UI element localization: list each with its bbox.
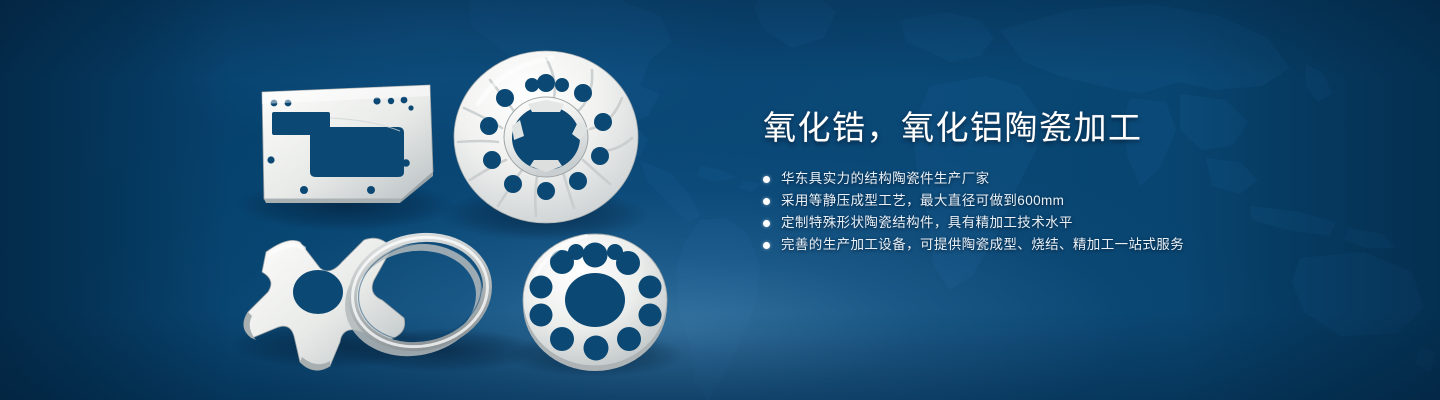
list-item: 采用等静压成型工艺，最大直径可做到600mm — [763, 190, 1323, 212]
list-item: 华东具实力的结构陶瓷件生产厂家 — [763, 168, 1323, 190]
promo-banner: 氧化锆，氧化铝陶瓷加工 华东具实力的结构陶瓷件生产厂家 采用等静压成型工艺，最大… — [0, 0, 1440, 400]
ceramic-perforated-disc — [523, 234, 667, 371]
feature-list: 华东具实力的结构陶瓷件生产厂家 采用等静压成型工艺，最大直径可做到600mm 定… — [763, 168, 1323, 256]
ceramic-impeller — [454, 51, 638, 223]
list-item-label: 完善的生产加工设备，可提供陶瓷成型、烧结、精加工一站式服务 — [781, 234, 1184, 256]
list-item-label: 华东具实力的结构陶瓷件生产厂家 — [781, 168, 990, 190]
bullet-dot-icon — [763, 198, 770, 205]
bullet-dot-icon — [763, 242, 770, 249]
list-item-label: 定制特殊形状陶瓷结构件，具有精加工技术水平 — [781, 212, 1073, 234]
list-item: 定制特殊形状陶瓷结构件，具有精加工技术水平 — [763, 212, 1323, 234]
bullet-dot-icon — [763, 220, 770, 227]
list-item: 完善的生产加工设备，可提供陶瓷成型、烧结、精加工一站式服务 — [763, 234, 1323, 256]
page-title: 氧化锆，氧化铝陶瓷加工 — [763, 106, 1323, 150]
ceramic-base-plate — [262, 85, 433, 203]
banner-copy: 氧化锆，氧化铝陶瓷加工 华东具实力的结构陶瓷件生产厂家 采用等静压成型工艺，最大… — [763, 106, 1323, 256]
bullet-dot-icon — [763, 176, 770, 183]
list-item-label: 采用等静压成型工艺，最大直径可做到600mm — [781, 190, 1064, 212]
